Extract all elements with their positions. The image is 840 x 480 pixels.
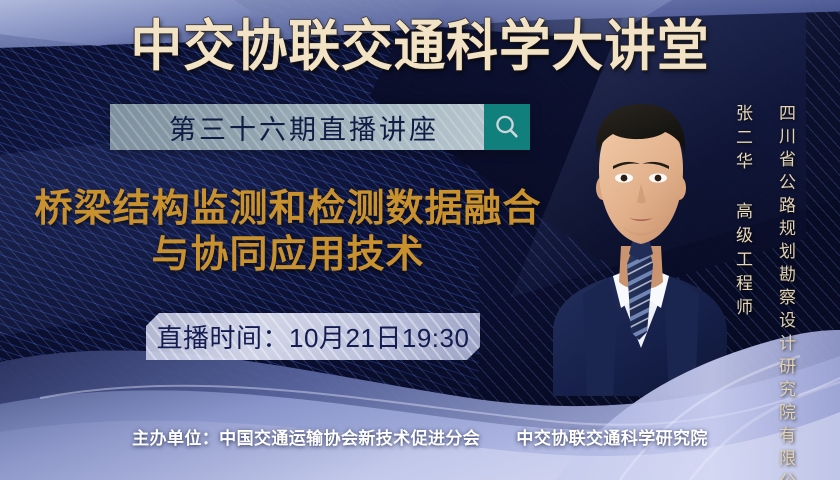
broadcast-time-banner: 直播时间：10月21日19:30: [146, 313, 480, 360]
search-icon: [484, 104, 530, 150]
page-title: 中交协联交通科学大讲堂: [25, 14, 815, 78]
organizer-primary: 主办单位：中国交通运输协会新技术促进分会: [132, 429, 480, 448]
broadcast-time-label: 直播时间：10月21日19:30: [157, 318, 470, 355]
speaker-name-vertical: 张二华 高级工程师: [730, 104, 755, 322]
organizer-footer: 主办单位：中国交通运输协会新技术促进分会 中交协联交通科学研究院: [0, 424, 840, 449]
session-banner-body: 第三十六期直播讲座: [110, 104, 484, 150]
session-banner: 第三十六期直播讲座: [110, 104, 530, 150]
speaker-portrait: [543, 96, 733, 396]
lecture-topic: 桥梁结构监测和检测数据融合 与协同应用技术: [18, 186, 558, 278]
lecture-topic-line1: 桥梁结构监测和检测数据融合: [34, 188, 541, 230]
lecture-topic-line2: 与协同应用技术: [18, 232, 558, 278]
session-label: 第三十六期直播讲座: [155, 108, 439, 147]
webinar-poster: 中交协联交通科学大讲堂 第三十六期直播讲座 桥梁结构监测和检测数据融合 与协同应…: [0, 0, 840, 480]
organizer-secondary: 中交协联交通科学研究院: [516, 429, 707, 448]
